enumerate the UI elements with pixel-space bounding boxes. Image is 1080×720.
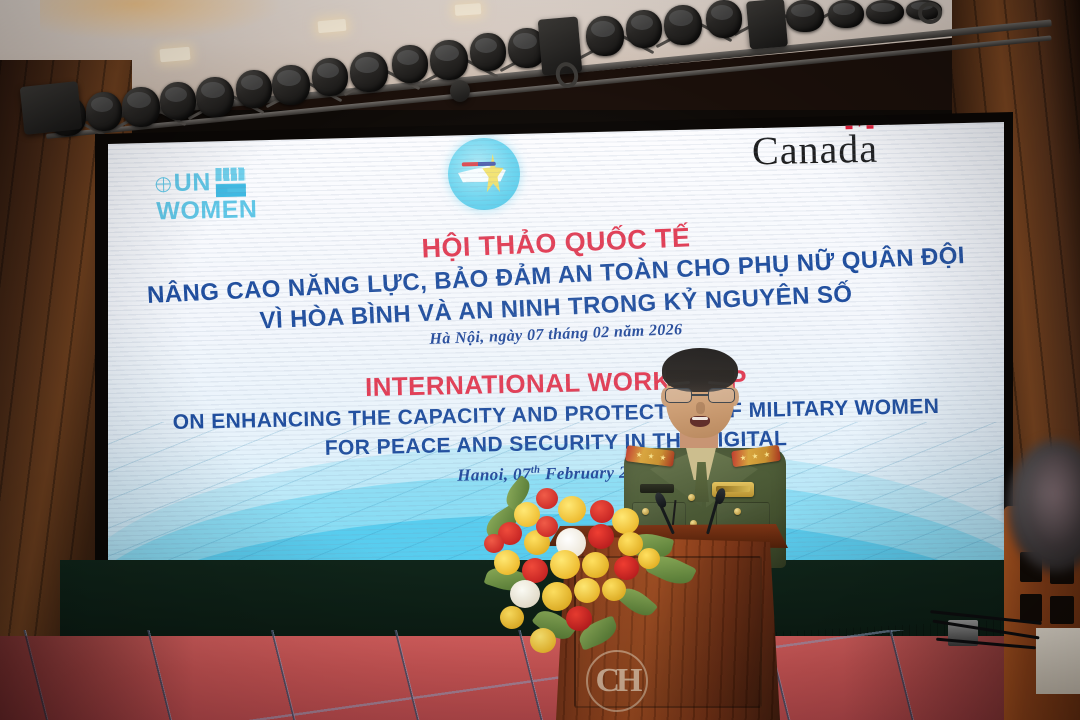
stage-light [586,16,624,56]
stage-light [122,87,160,127]
stage-light [196,77,234,117]
red-rose [590,500,614,523]
red-rose [614,556,639,580]
stage-light [664,5,702,45]
projector-housing [20,81,83,135]
red-rose [536,516,558,537]
lens-left [665,388,692,403]
stage-light [828,0,864,28]
yellow-rose [602,578,626,601]
yellow-rose [638,548,660,569]
stage-light [160,82,196,120]
conference-photo-scene: UN WOMEN Canada HỘI THẢO QUỐC TẾ NÂNG CA… [0,0,1080,720]
chair-slat-gap [1050,596,1074,624]
nose [696,402,705,414]
stage-light [392,45,428,83]
stage-light [350,52,388,92]
red-rose [484,534,504,553]
stage-light [272,65,310,105]
stage-light [786,0,824,32]
stage-light [470,33,506,71]
mouth [690,416,710,427]
moving-head-fixture [746,0,788,50]
flower-arrangement [478,472,708,672]
truss-clamp [450,80,470,102]
yellow-rose [500,606,524,629]
yellow-rose [558,496,586,523]
red-rose [536,488,558,509]
yellow-rose [530,628,556,653]
floor-cables [930,608,1050,678]
stage-light [626,10,662,48]
stage-light [236,70,272,108]
yellow-rose [582,552,609,578]
stage-light [86,92,122,131]
red-rose [566,606,592,631]
stage-light [706,0,742,38]
stage-light [430,40,468,80]
yellow-rose [494,550,520,575]
lens-right [708,388,735,403]
yellow-rose [542,582,572,611]
yellow-rose [550,550,580,579]
stage-light [866,0,904,24]
yellow-rose [574,578,600,603]
cable [936,638,1036,650]
red-rose [588,524,614,549]
glasses-bridge [692,394,708,396]
stage-light [312,58,348,96]
yellow-rose [612,508,639,534]
white-filler [510,580,540,608]
cable-loop [918,2,942,24]
uniform-button [734,508,741,515]
